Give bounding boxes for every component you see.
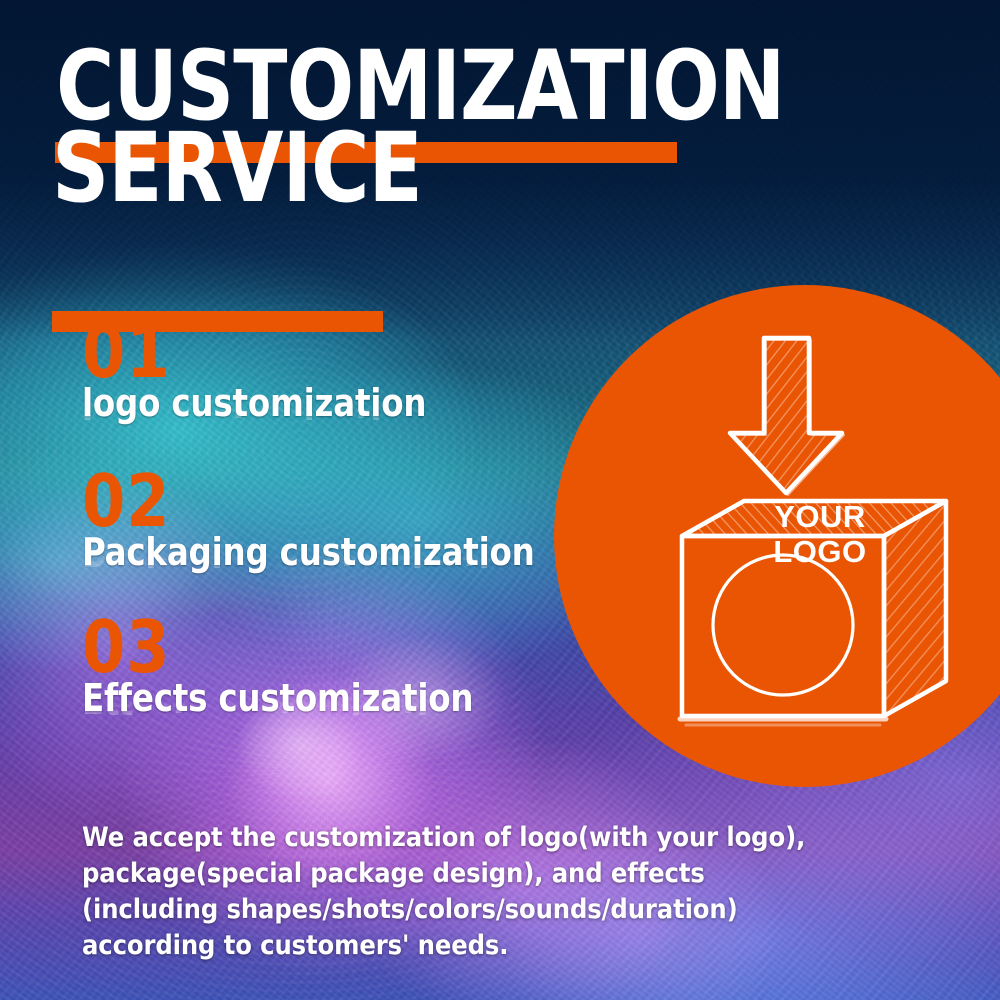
list-item: 03 Effects customization Effects customi… [82, 617, 622, 736]
box-front-face [680, 536, 886, 725]
feature-number-02: 02 [82, 471, 600, 533]
feature-list: 01 logo customization logo customization… [82, 322, 622, 736]
logo-customization-badge: YOUR LOGO [554, 285, 1000, 787]
list-item: 01 logo customization logo customization [82, 322, 622, 441]
feature-number-03: 03 [82, 617, 600, 679]
feature-label-03: Effects customization [82, 679, 595, 718]
headline-underline-bar-2 [52, 311, 383, 332]
feature-label-02: Packaging customization [82, 533, 595, 572]
arrow-down-icon [730, 338, 844, 495]
headline-line-2-row: SERVICE [52, 124, 752, 212]
description-paragraph: We accept the customization of logo(with… [82, 820, 842, 964]
page-title: CUSTOMIZATION SERVICE [52, 42, 752, 213]
list-item: 02 Packaging customization Packaging cus… [82, 471, 622, 590]
headline-line-2: SERVICE [52, 124, 696, 212]
customization-service-poster: CUSTOMIZATION SERVICE 01 logo customizat… [0, 0, 1000, 1000]
box-right-face [884, 501, 946, 716]
package-box-illustration [554, 285, 1000, 787]
feature-label-01: logo customization [82, 384, 595, 423]
logo-placeholder-circle-icon [713, 555, 853, 695]
